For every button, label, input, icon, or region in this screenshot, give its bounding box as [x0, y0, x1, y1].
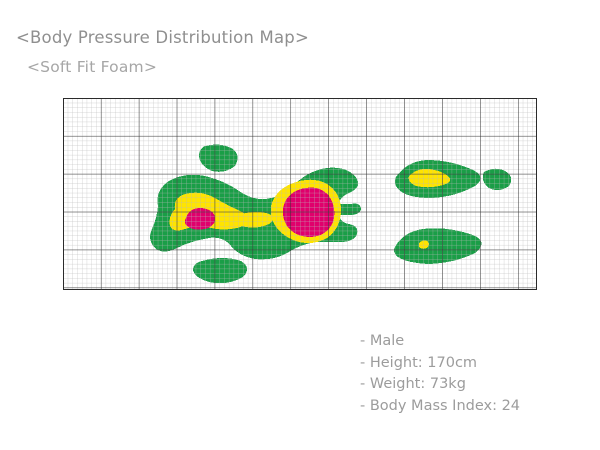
info-line-weight: - Weight: 73kg: [360, 374, 520, 396]
info-line-height: - Height: 170cm: [360, 353, 520, 375]
subject-info-panel: - Male - Height: 170cm - Weight: 73kg - …: [360, 331, 520, 417]
info-line-gender: - Male: [360, 331, 520, 353]
page-title: <Body Pressure Distribution Map>: [16, 28, 309, 47]
page-subtitle: <Soft Fit Foam>: [27, 58, 157, 76]
grid-major-overlay: [63, 98, 537, 290]
pressure-map-container: [63, 98, 537, 290]
info-line-bmi: - Body Mass Index: 24: [360, 396, 520, 418]
pressure-heatmap: [63, 98, 537, 290]
